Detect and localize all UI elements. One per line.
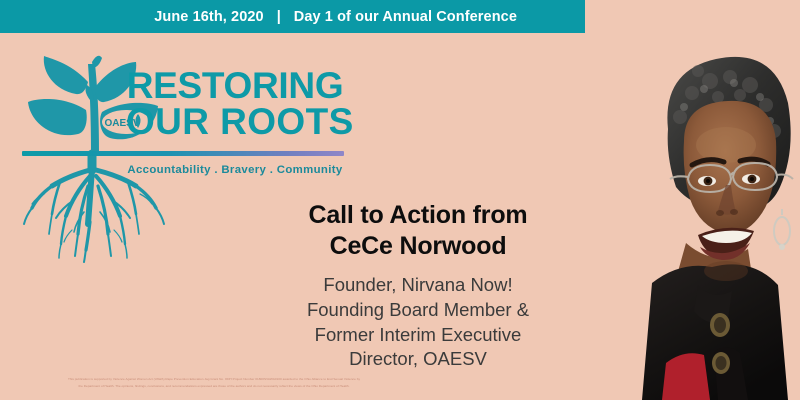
logo-gradient-divider [22, 151, 344, 156]
logo-word-line-2: OUR ROOTS [126, 104, 344, 140]
credential-line-4: Director, OAESV [253, 347, 583, 372]
headline-line-1: Call to Action from [253, 200, 583, 231]
speaker-portrait-photo [622, 33, 800, 400]
credential-line-1: Founder, Nirvana Now! [253, 273, 583, 298]
logo-word-line-1: RESTORING [126, 68, 344, 104]
logo-tagline: Accountability . Bravery . Community [126, 164, 344, 176]
main-copy: Call to Action from CeCe Norwood Founder… [253, 200, 583, 372]
credential-line-3: Former Interim Executive [253, 323, 583, 348]
banner-separator: | [277, 9, 281, 25]
conference-flyer: June 16th, 2020 | Day 1 of our Annual Co… [0, 0, 800, 400]
funding-disclaimer: This publication is supported by Violenc… [14, 376, 414, 390]
headline-line-2: CeCe Norwood [253, 231, 583, 262]
credential-line-2: Founding Board Member & [253, 298, 583, 323]
banner-subtitle: Day 1 of our Annual Conference [294, 9, 517, 25]
disclaimer-line-1: This publication is supported by Violenc… [14, 376, 414, 383]
disclaimer-line-2: the Department of Health. The opinions, … [14, 383, 414, 390]
banner-date: June 16th, 2020 [154, 9, 264, 25]
speaker-credentials: Founder, Nirvana Now! Founding Board Mem… [253, 273, 583, 372]
logo-wordmark: RESTORING OUR ROOTS [126, 68, 344, 141]
top-banner: June 16th, 2020 | Day 1 of our Annual Co… [0, 0, 585, 33]
